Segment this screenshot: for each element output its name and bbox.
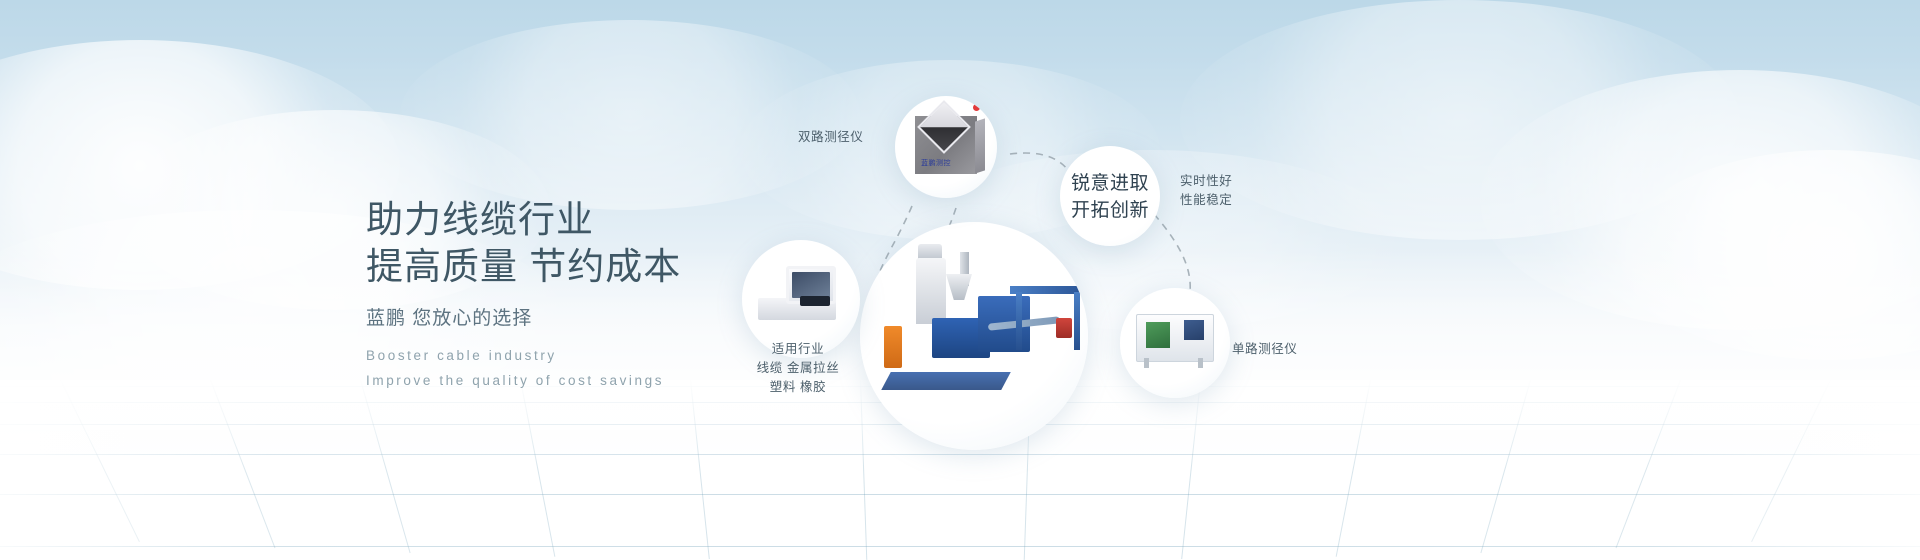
cabinet-leg-shape [1198, 358, 1203, 368]
center-slogan-line-1: 锐意进取 [1060, 170, 1160, 197]
conveyor-leg-shape [1016, 292, 1022, 350]
center-slogan: 锐意进取 开拓创新 [1060, 170, 1160, 224]
product-composition: 蓝鹏测控 锐意进取 开拓创新 双路测径仪 单路测径仪 实时性好 [680, 0, 1300, 560]
label-applications: 适用行业 线缆 金属拉丝 塑料 橡胶 [728, 340, 868, 397]
cabinet-window-shape [1146, 322, 1170, 348]
bubble-single-gauge [1120, 288, 1230, 398]
label-feature-line-2: 性能稳定 [1180, 191, 1232, 210]
cloud-decoration [0, 40, 400, 290]
label-apply-line-2: 塑料 橡胶 [728, 378, 868, 397]
factory-floor-shape [881, 372, 1011, 390]
label-dual-gauge: 双路测径仪 [798, 128, 864, 147]
label-features: 实时性好 性能稳定 [1180, 172, 1232, 210]
cloud-decoration [1620, 150, 1920, 360]
cabinet-leg-shape [1144, 358, 1149, 368]
conveyor-leg-shape [1074, 292, 1080, 350]
monitor-screen-inner [792, 272, 830, 298]
console-panel-shape [800, 296, 830, 306]
cabinet-panel-shape [1184, 320, 1204, 340]
gauge-side-shape [975, 118, 985, 173]
label-apply-line-1: 线缆 金属拉丝 [728, 359, 868, 378]
extruder-shape [916, 258, 946, 324]
label-feature-line-1: 实时性好 [1180, 172, 1232, 191]
orange-machine-shape [884, 326, 902, 368]
red-machine-shape [1056, 318, 1072, 338]
status-indicator-dot [973, 104, 980, 111]
bubble-dual-gauge: 蓝鹏测控 [895, 96, 997, 198]
label-apply-title: 适用行业 [728, 340, 868, 359]
center-slogan-line-2: 开拓创新 [1060, 197, 1160, 224]
bubble-production-line [860, 222, 1088, 450]
hero-banner: 助力线缆行业 提高质量 节约成本 蓝鹏 您放心的选择 Booster cable… [0, 0, 1920, 560]
label-single-gauge: 单路测径仪 [1232, 340, 1298, 359]
cloud-decoration [1480, 70, 1920, 330]
hopper-shape [946, 274, 972, 300]
device-brand-mark: 蓝鹏测控 [921, 158, 951, 168]
